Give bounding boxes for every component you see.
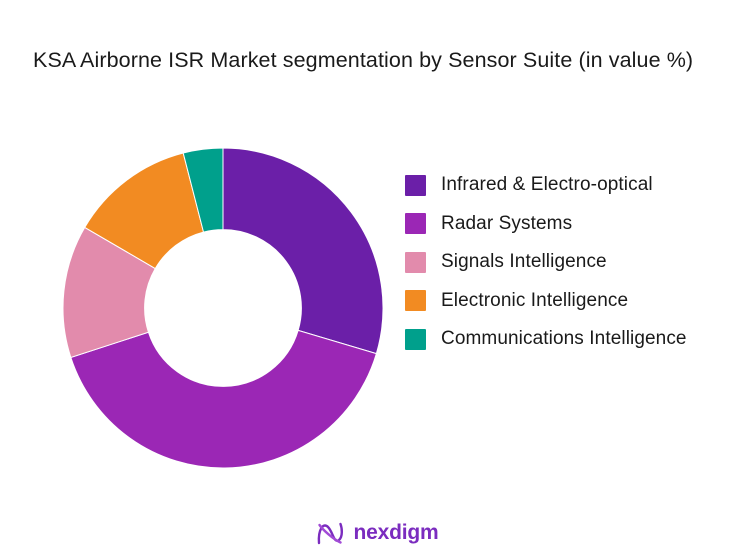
legend-swatch-icon	[405, 290, 426, 311]
legend-item-label: Infrared & Electro-optical	[441, 174, 653, 196]
legend-item[interactable]: Radar Systems	[405, 205, 745, 244]
brand-logo: nexdigm	[0, 520, 753, 546]
legend-item[interactable]: Communications Intelligence	[405, 320, 745, 359]
wave-n-icon	[315, 520, 345, 546]
legend-swatch-icon	[405, 213, 426, 234]
legend-swatch-icon	[405, 252, 426, 273]
legend-swatch-icon	[405, 329, 426, 350]
chart-plot-area: Infrared & Electro-opticalRadar SystemsS…	[0, 0, 753, 500]
donut-chart-svg	[63, 148, 383, 468]
donut-slice[interactable]	[71, 330, 377, 468]
legend-item[interactable]: Infrared & Electro-optical	[405, 166, 745, 205]
legend-item-label: Radar Systems	[441, 213, 572, 235]
legend-item[interactable]: Electronic Intelligence	[405, 282, 745, 321]
brand-name: nexdigm	[354, 521, 439, 545]
donut-slice[interactable]	[223, 148, 383, 354]
donut-chart	[63, 148, 383, 468]
legend-item-label: Electronic Intelligence	[441, 290, 628, 312]
chart-legend: Infrared & Electro-opticalRadar SystemsS…	[405, 166, 745, 359]
legend-item-label: Communications Intelligence	[441, 328, 687, 350]
legend-swatch-icon	[405, 175, 426, 196]
donut-slice-group	[63, 148, 383, 468]
legend-item-label: Signals Intelligence	[441, 251, 607, 273]
legend-item[interactable]: Signals Intelligence	[405, 243, 745, 282]
